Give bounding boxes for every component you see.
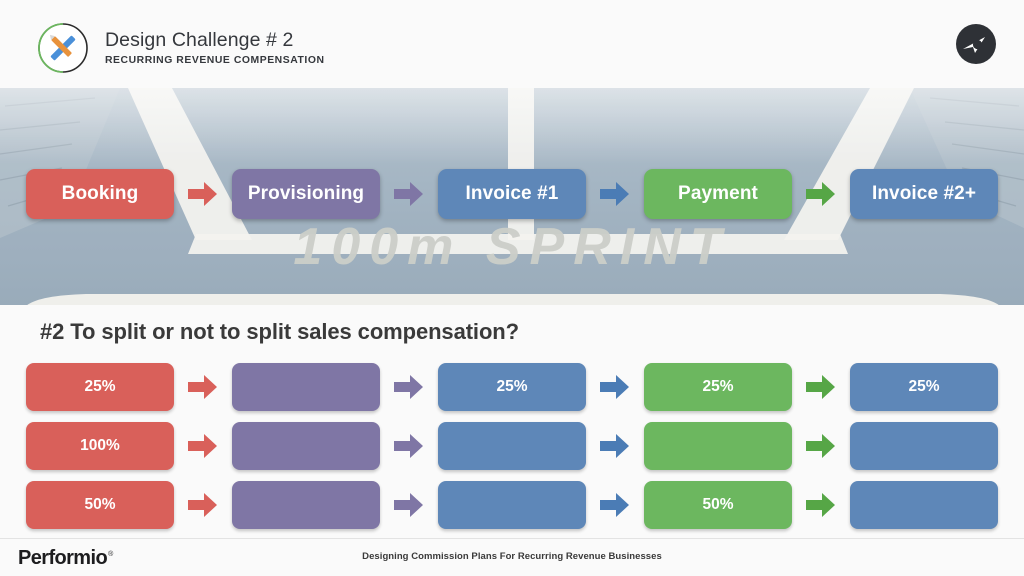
cell-option3-provisioning[interactable] xyxy=(232,481,380,529)
row-arrow-green-icon xyxy=(802,374,840,400)
cell-option2-payment[interactable] xyxy=(644,422,792,470)
cell-option2-invoice-1[interactable] xyxy=(438,422,586,470)
table-row: 25% 25% 25% xyxy=(0,357,1024,416)
revenue-lifecycle-flow: Booking Provisioning Invoice #1 Payment xyxy=(0,169,1024,219)
presentation-slide: Design Challenge # 2 RECURRING REVENUE C… xyxy=(0,0,1024,576)
flow-arrow-purple-icon xyxy=(390,181,428,207)
table-row: 50% 50% xyxy=(0,475,1024,534)
flow-step-payment[interactable]: Payment xyxy=(644,169,792,219)
page-subtitle: RECURRING REVENUE COMPENSATION xyxy=(105,55,325,66)
flow-step-booking[interactable]: Booking xyxy=(26,169,174,219)
cell-option2-invoice-2plus[interactable] xyxy=(850,422,998,470)
question-heading: #2 To split or not to split sales compen… xyxy=(40,319,519,345)
page-title: Design Challenge # 2 xyxy=(105,28,325,52)
row-arrow-green-icon xyxy=(802,433,840,459)
flow-step-invoice-2plus[interactable]: Invoice #2+ xyxy=(850,169,998,219)
row-arrow-blue-icon xyxy=(596,492,634,518)
header-title-block: Design Challenge # 2 RECURRING REVENUE C… xyxy=(105,28,325,66)
cell-option2-booking[interactable]: 100% xyxy=(26,422,174,470)
cell-option3-payment[interactable]: 50% xyxy=(644,481,792,529)
row-arrow-purple-icon xyxy=(390,492,428,518)
performio-circle-arrow-logo xyxy=(952,20,1000,68)
flow-arrow-green-icon xyxy=(802,181,840,207)
cell-option1-booking[interactable]: 25% xyxy=(26,363,174,411)
hero-track-image: 100m SPRINT Booking Provisioning Invoice… xyxy=(0,88,1024,305)
row-arrow-green-icon xyxy=(802,492,840,518)
design-tools-cross-icon xyxy=(37,22,89,74)
flow-step-provisioning[interactable]: Provisioning xyxy=(232,169,380,219)
row-arrow-purple-icon xyxy=(390,374,428,400)
cell-option1-invoice-1[interactable]: 25% xyxy=(438,363,586,411)
slide-footer: Performi o ® Designing Commission Plans … xyxy=(0,538,1024,576)
cell-option3-invoice-1[interactable] xyxy=(438,481,586,529)
cell-option1-payment[interactable]: 25% xyxy=(644,363,792,411)
compensation-split-grid: 25% 25% 25% xyxy=(0,357,1024,534)
row-arrow-red-icon xyxy=(184,433,222,459)
row-arrow-red-icon xyxy=(184,374,222,400)
row-arrow-blue-icon xyxy=(596,374,634,400)
cell-option1-invoice-2plus[interactable]: 25% xyxy=(850,363,998,411)
cell-option1-provisioning[interactable] xyxy=(232,363,380,411)
flow-arrow-blue-icon xyxy=(596,181,634,207)
cell-option2-provisioning[interactable] xyxy=(232,422,380,470)
table-row: 100% xyxy=(0,416,1024,475)
cell-option3-invoice-2plus[interactable] xyxy=(850,481,998,529)
row-arrow-blue-icon xyxy=(596,433,634,459)
flow-arrow-red-icon xyxy=(184,181,222,207)
cell-option3-booking[interactable]: 50% xyxy=(26,481,174,529)
row-arrow-red-icon xyxy=(184,492,222,518)
row-arrow-purple-icon xyxy=(390,433,428,459)
footer-tagline: Designing Commission Plans For Recurring… xyxy=(0,551,1024,562)
slide-body: #2 To split or not to split sales compen… xyxy=(0,305,1024,538)
slide-header: Design Challenge # 2 RECURRING REVENUE C… xyxy=(0,0,1024,88)
flow-step-invoice-1[interactable]: Invoice #1 xyxy=(438,169,586,219)
